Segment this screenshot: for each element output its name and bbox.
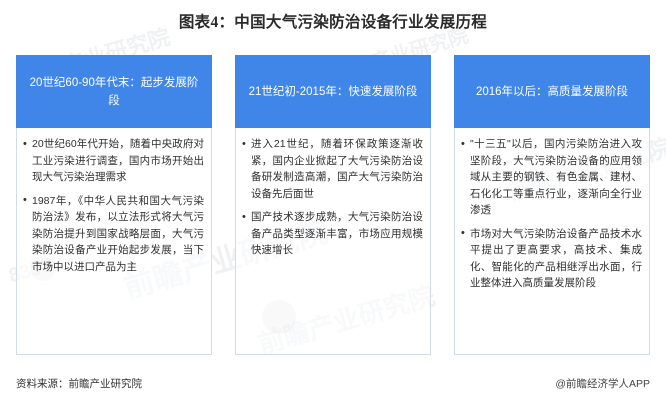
card-header-stage-2: 21世纪初-2015年：快速发展阶段 xyxy=(235,55,431,128)
bullet-list-stage-1: 20世纪60年代开始，随着中央政府对工业污染进行调查，国内市场开始出现大气污染治… xyxy=(23,136,204,275)
source-label: 资料来源：前瞻产业研究院 xyxy=(16,376,142,391)
timeline-cards: 20世纪60-90年代末：起步发展阶段 20世纪60年代开始，随着中央政府对工业… xyxy=(16,55,650,355)
list-item: 20世纪60年代开始，随着中央政府对工业污染进行调查，国内市场开始出现大气污染治… xyxy=(23,136,204,186)
page-title: 图表4：中国大气污染防治设备行业发展历程 xyxy=(0,10,666,32)
list-item: 进入21世纪，随着环保政策逐渐收紧，国内企业掀起了大气污染防治设备研发制造高潮，… xyxy=(242,136,423,202)
footer: 资料来源：前瞻产业研究院 @前瞻经济学人APP xyxy=(16,376,650,391)
list-item: 市场对大气污染防治设备产品技术水平提出了更高要求，高技术、集成化、智能化的产品相… xyxy=(461,226,642,292)
bullet-list-stage-3: "十三五"以后，国内污染防治进入攻坚阶段，大气污染防治设备的应用领域从主要的钢铁… xyxy=(461,136,642,292)
list-item: 国产技术逐步成熟，大气污染防治设备产品类型逐渐丰富，市场应用规模快速增长 xyxy=(242,209,423,259)
card-body-stage-2: 进入21世纪，随着环保政策逐渐收紧，国内企业掀起了大气污染防治设备研发制造高潮，… xyxy=(235,128,431,355)
card-body-stage-3: "十三五"以后，国内污染防治进入攻坚阶段，大气污染防治设备的应用领域从主要的钢铁… xyxy=(454,128,650,355)
bullet-list-stage-2: 进入21世纪，随着环保政策逐渐收紧，国内企业掀起了大气污染防治设备研发制造高潮，… xyxy=(242,136,423,259)
attribution-label: @前瞻经济学人APP xyxy=(555,376,650,391)
timeline-card-stage-3: 2016年以后：高质量发展阶段 "十三五"以后，国内污染防治进入攻坚阶段，大气污… xyxy=(454,55,650,355)
timeline-card-stage-1: 20世纪60-90年代末：起步发展阶段 20世纪60年代开始，随着中央政府对工业… xyxy=(16,55,212,355)
card-body-stage-1: 20世纪60年代开始，随着中央政府对工业污染进行调查，国内市场开始出现大气污染治… xyxy=(16,128,212,355)
timeline-card-stage-2: 21世纪初-2015年：快速发展阶段 进入21世纪，随着环保政策逐渐收紧，国内企… xyxy=(235,55,431,355)
card-header-stage-3: 2016年以后：高质量发展阶段 xyxy=(454,55,650,128)
card-header-stage-1: 20世纪60-90年代末：起步发展阶段 xyxy=(16,55,212,128)
list-item: "十三五"以后，国内污染防治进入攻坚阶段，大气污染防治设备的应用领域从主要的钢铁… xyxy=(461,136,642,219)
list-item: 1987年，《中华人民共和国大气污染防治法》发布，以立法形式将大气污染防治提升到… xyxy=(23,193,204,276)
